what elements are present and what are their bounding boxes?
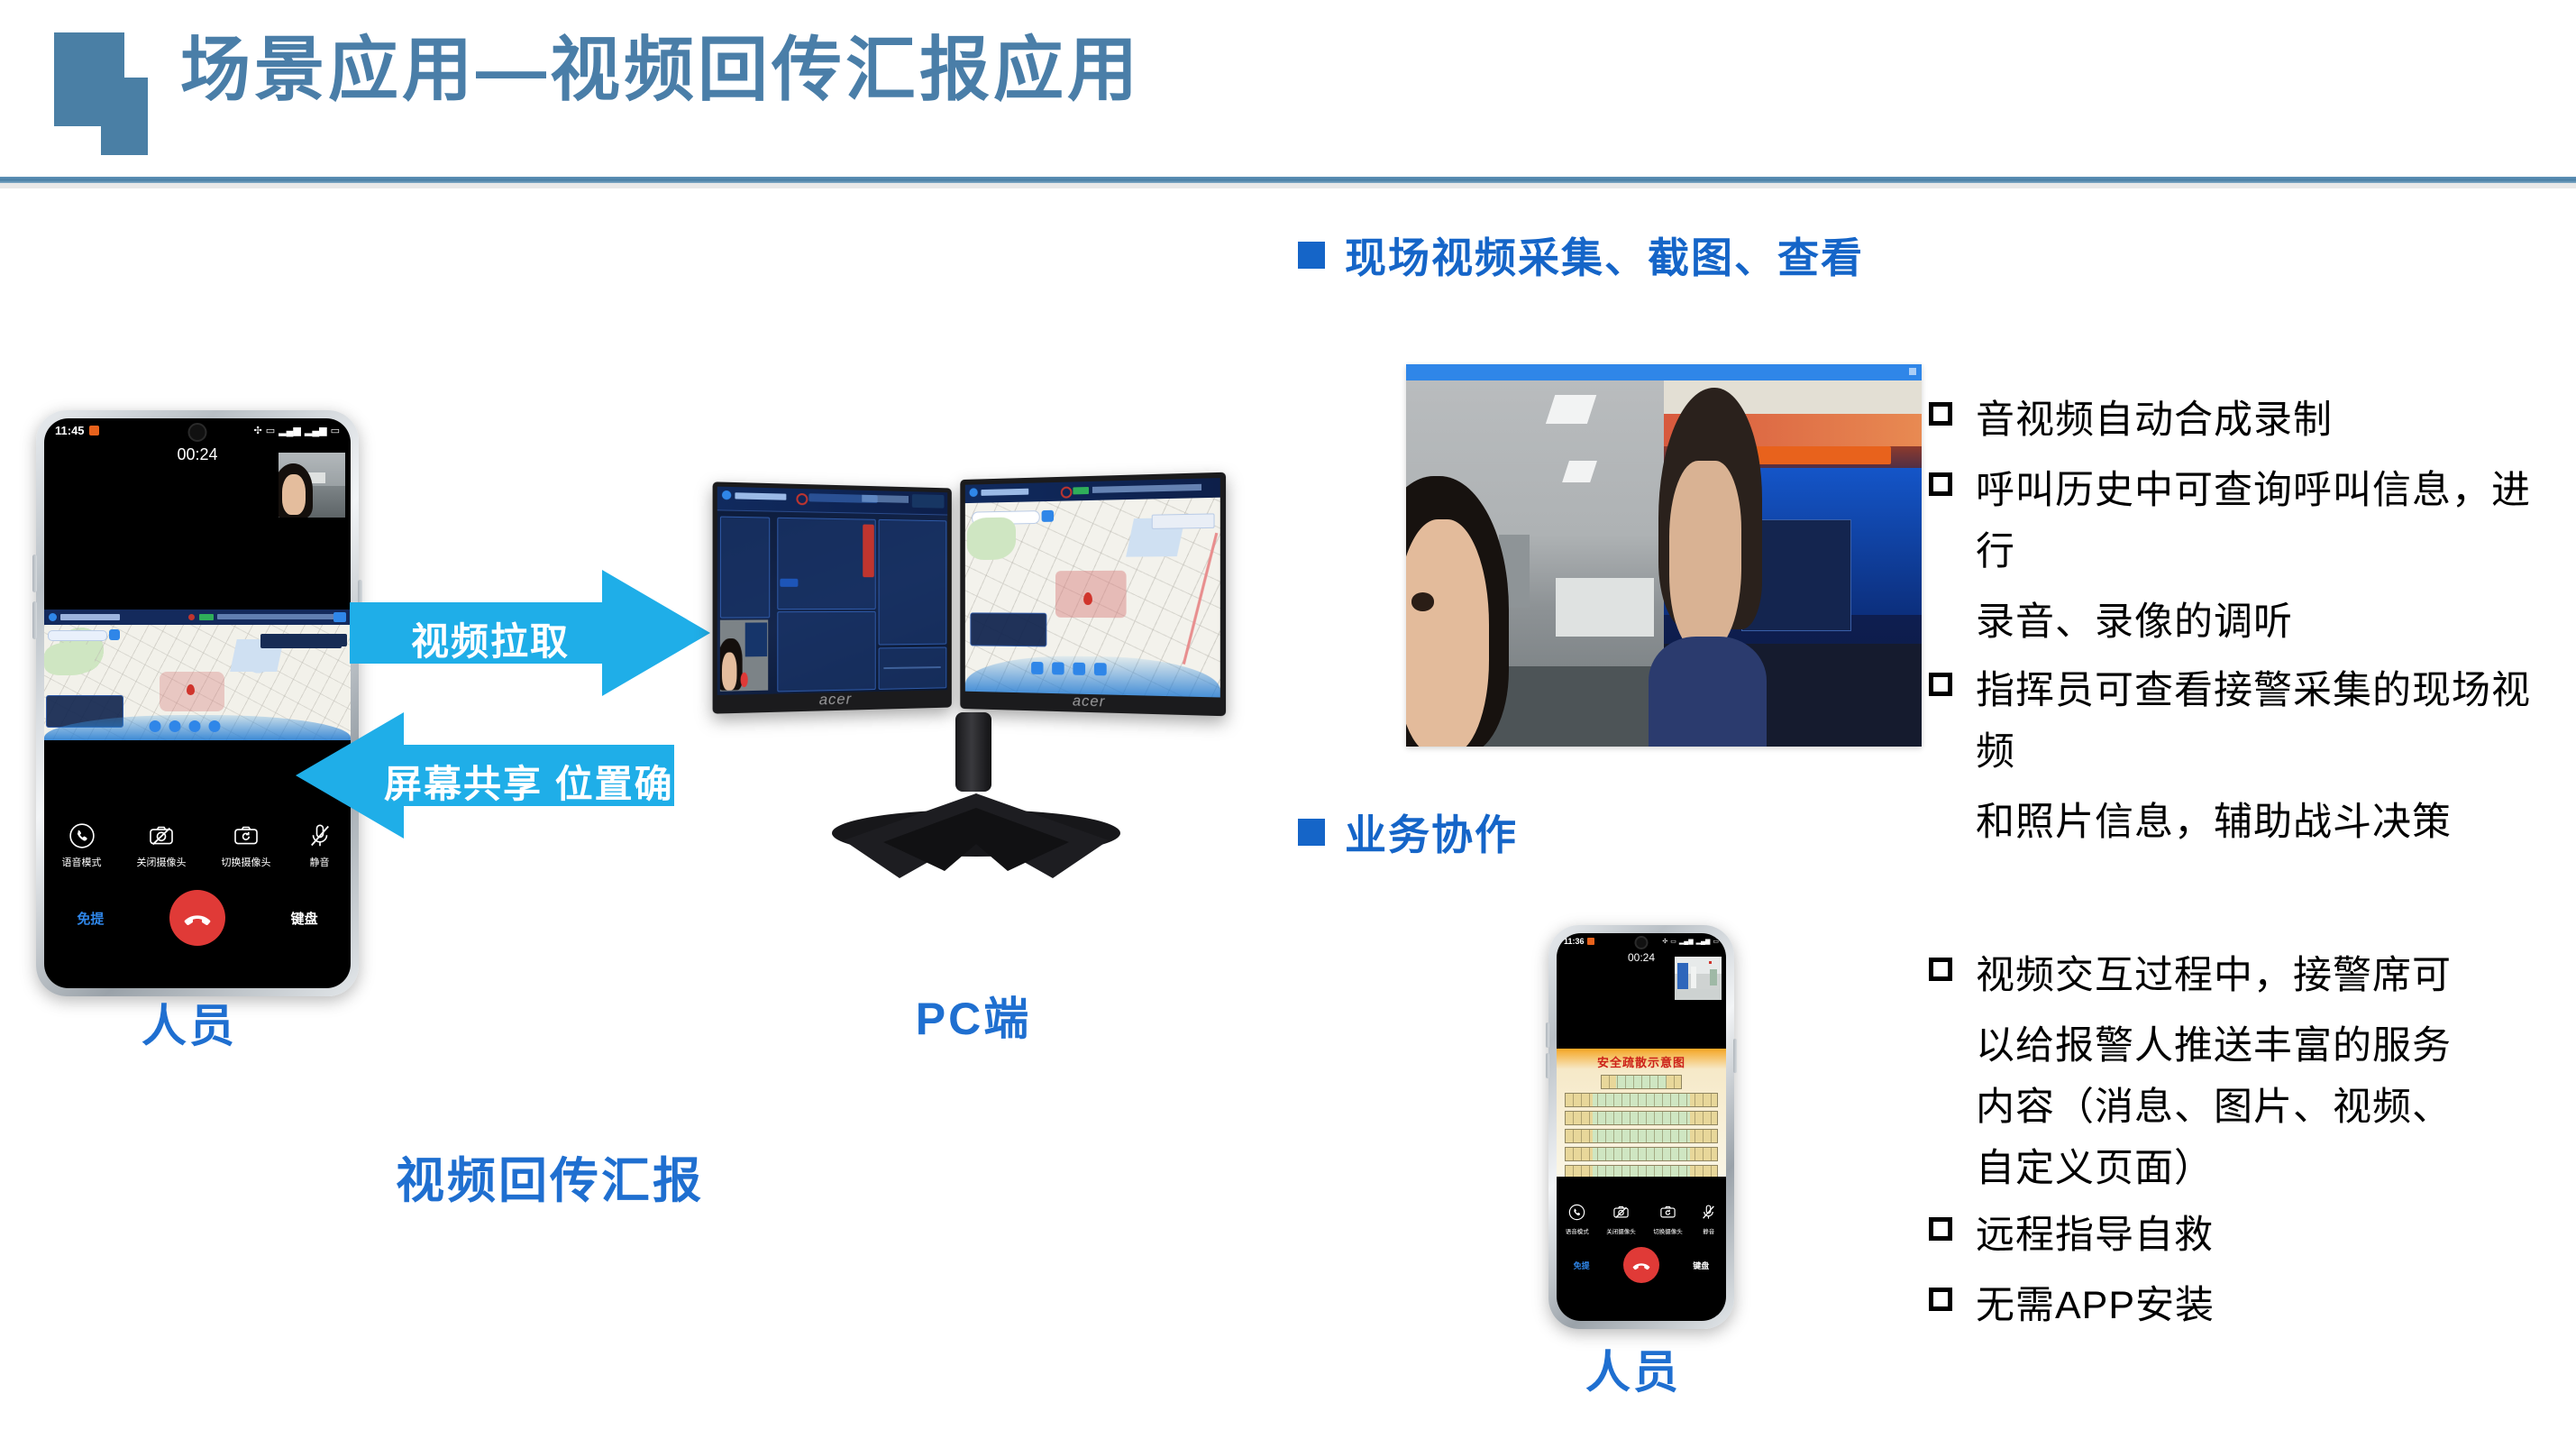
app-badge-icon	[89, 426, 99, 435]
camera-switch-icon	[1659, 1204, 1676, 1221]
bullet-text-continued: 内容（消息、图片、视频、	[1929, 1077, 2560, 1138]
phone-right-side-button[interactable]	[1733, 1039, 1737, 1073]
bullet-square-icon	[1929, 958, 1952, 981]
camera-switch-button[interactable]: 切换摄像头	[222, 822, 271, 869]
evac-diagram-title: 安全疏散示意图	[1557, 1053, 1726, 1070]
console-checklist-panel	[777, 611, 876, 692]
section-heading-video-capture: 现场视频采集、截图、查看	[1298, 225, 1864, 285]
monitor-left-screen[interactable]	[717, 487, 947, 695]
signal-2-icon: ▂▄▆	[305, 425, 327, 436]
map-pin-icon	[1083, 592, 1092, 605]
map-park-area	[967, 517, 1016, 560]
camera-off-icon	[148, 822, 175, 849]
map-legend-panel	[970, 612, 1046, 646]
bullet-text: 视频交互过程中，接警席可	[1976, 945, 2452, 1006]
map-toolbar[interactable]	[1152, 513, 1215, 529]
dispatch-console-ui	[717, 487, 947, 695]
phone-right-screen: 11:36 ✣ ▭ ▂▄▆ ▂▄▆ ▭ 00:24 安全疏散示意图	[1557, 933, 1726, 1321]
arrow-back-label: 屏幕共享 位置确认	[384, 754, 714, 809]
map-console-topbar	[965, 478, 1220, 503]
page-title: 场景应用—视频回传汇报应用	[180, 20, 1141, 119]
voice-mode-button[interactable]: 语音模式	[1566, 1204, 1589, 1235]
console-video-preview	[720, 619, 768, 691]
section-heading-label: 现场视频采集、截图、查看	[1345, 225, 1864, 285]
mic-off-icon	[1700, 1204, 1717, 1221]
phone-left-bottom-bar: 免提 键盘	[44, 890, 351, 946]
section-bullet-icon	[1298, 819, 1325, 846]
hangup-icon	[182, 903, 213, 933]
camera-off-button[interactable]: 关闭摄像头	[1606, 1204, 1636, 1235]
bullet-text-continued: 录音、录像的调听	[1929, 591, 2560, 653]
keypad-button[interactable]: 键盘	[1693, 1260, 1709, 1271]
phone-left-front-camera	[188, 423, 207, 442]
bullet-square-icon	[1929, 1288, 1952, 1311]
bullet-list-business-collab: 视频交互过程中，接警席可 以给报警人推送丰富的服务 内容（消息、图片、视频、 自…	[1929, 945, 2560, 1345]
arrow-back: 屏幕共享 位置确认	[296, 712, 674, 839]
console-topbar	[717, 487, 947, 516]
header-divider-shadow	[0, 183, 2576, 188]
camera-off-label: 关闭摄像头	[1606, 1226, 1636, 1235]
bluetooth-icon: ✣	[1662, 938, 1667, 945]
bullet-text-continued: 和照片信息，辅助战斗决策	[1929, 792, 2560, 853]
camera-switch-label: 切换摄像头	[222, 855, 271, 869]
section-heading-label: 业务协作	[1345, 802, 1518, 862]
bullet-text: 音视频自动合成录制	[1976, 390, 2333, 451]
bullet-item: 指挥员可查看接警采集的现场视频	[1929, 660, 2560, 783]
voice-mode-label: 语音模式	[1566, 1226, 1589, 1235]
floor-row	[1565, 1093, 1717, 1107]
mute-label: 静音	[310, 855, 330, 869]
hangup-button[interactable]	[1623, 1247, 1659, 1283]
bullet-text: 无需APP安装	[1976, 1275, 2215, 1336]
floor-row	[1565, 1129, 1717, 1143]
pc-monitors: acer	[694, 460, 1253, 965]
map-console-ui	[965, 478, 1220, 697]
section-bullet-icon	[1298, 242, 1325, 269]
map-bottom-wave	[965, 655, 1220, 698]
wifi-icon: ▭	[266, 425, 275, 436]
video-call-photo	[1406, 364, 1922, 747]
camera-switch-icon	[233, 822, 260, 849]
hangup-button[interactable]	[169, 890, 225, 946]
monitor-right: acer	[960, 472, 1226, 717]
battery-icon: ▭	[331, 425, 340, 436]
photo-dispatcher-pane	[1664, 380, 1922, 747]
header-divider	[0, 177, 2576, 183]
phone-right: 11:36 ✣ ▭ ▂▄▆ ▂▄▆ ▭ 00:24 安全疏散示意图	[1548, 925, 1734, 1329]
phone-icon	[69, 822, 96, 849]
console-action-chip[interactable]	[780, 579, 799, 587]
bullet-square-icon	[1929, 1217, 1952, 1241]
phone-right-front-camera	[1635, 936, 1649, 949]
photo-close-icon[interactable]	[1909, 368, 1916, 375]
phone-left-caption: 人员	[36, 990, 343, 1055]
monitor-right-brand: acer	[1073, 692, 1105, 711]
photo-dispatcher-shirt	[1649, 637, 1768, 747]
floor-row	[1565, 1147, 1717, 1161]
phone-right-self-view[interactable]	[1675, 957, 1722, 1000]
speaker-button[interactable]: 免提	[77, 909, 104, 928]
bullet-text-continued: 以给报警人推送丰富的服务	[1929, 1015, 2560, 1077]
phone-right-power-button[interactable]	[1546, 1053, 1549, 1078]
app-badge-icon	[1587, 938, 1594, 945]
flow-caption: 视频回传汇报	[297, 1141, 802, 1212]
bullet-list-video-capture: 音视频自动合成录制 呼叫历史中可查询呼叫信息，进行 录音、录像的调听 指挥员可查…	[1929, 390, 2560, 853]
phone-left-status-time: 11:45	[55, 424, 85, 437]
bullet-item: 无需APP安装	[1929, 1275, 2560, 1336]
monitor-left: acer	[713, 481, 952, 713]
console-alarm-button[interactable]	[863, 525, 874, 577]
floor-row	[1565, 1165, 1717, 1177]
photo-building	[1556, 578, 1654, 637]
bullet-text-continued: 自定义页面）	[1929, 1138, 2560, 1199]
step-logo-block-bottom	[101, 78, 148, 155]
camera-off-label: 关闭摄像头	[137, 855, 187, 869]
camera-switch-button[interactable]: 切换摄像头	[1653, 1204, 1683, 1235]
phone-left: 11:45 ✣ ▭ ▂▄▆ ▂▄▆ ▭ 00:24	[36, 410, 359, 996]
hangup-icon	[1631, 1255, 1651, 1275]
voice-mode-button[interactable]: 语音模式	[62, 822, 102, 869]
mute-button[interactable]: 静音	[1700, 1204, 1717, 1235]
signal-2-icon: ▂▄▆	[1696, 938, 1711, 945]
bullet-square-icon	[1929, 402, 1952, 426]
camera-off-icon	[1612, 1204, 1630, 1221]
photo-caller-face	[1406, 519, 1489, 747]
phone-right-controls: 语音模式 关闭摄像头 切换摄像头	[1557, 1204, 1726, 1235]
keypad-button[interactable]: 键盘	[291, 909, 318, 928]
photo-caller-pane	[1406, 380, 1664, 747]
camera-switch-label: 切换摄像头	[1653, 1226, 1683, 1235]
console-form-panel	[777, 517, 876, 609]
bullet-item: 音视频自动合成录制	[1929, 390, 2560, 451]
mute-label: 静音	[1703, 1226, 1714, 1235]
speaker-button[interactable]: 免提	[1574, 1260, 1590, 1271]
phone-right-shared-evac-diagram[interactable]: 安全疏散示意图	[1557, 1049, 1726, 1177]
pc-caption: PC端	[784, 983, 1163, 1048]
bullet-item: 视频交互过程中，接警席可	[1929, 945, 2560, 1006]
phone-right-volume-button[interactable]	[1546, 1022, 1549, 1048]
signal-1-icon: ▂▄▆	[1679, 938, 1694, 945]
bullet-text: 指挥员可查看接警采集的现场视频	[1976, 660, 2553, 783]
arrow-forward-label: 视频拉取	[411, 611, 570, 666]
phone-left-volume-button[interactable]	[32, 555, 37, 592]
phone-right-bottom-bar: 免提 键盘	[1557, 1247, 1726, 1283]
console-left-panel	[720, 516, 770, 618]
shared-map-titlebar	[44, 610, 351, 625]
bullet-square-icon	[1929, 673, 1952, 696]
bullet-text: 呼叫历史中可查询呼叫信息，进行	[1976, 460, 2553, 582]
console-info-panel	[879, 518, 947, 645]
video-call-photo-titlebar	[1406, 364, 1922, 380]
monitor-stand-base	[827, 777, 1125, 894]
bullet-square-icon	[1929, 472, 1952, 496]
battery-icon: ▭	[1713, 938, 1719, 945]
phone-right-status-time: 11:36	[1564, 937, 1585, 946]
floor-row	[1565, 1111, 1717, 1125]
wifi-icon: ▭	[1670, 938, 1676, 945]
signal-1-icon: ▂▄▆	[279, 425, 301, 436]
bullet-item: 远程指导自救	[1929, 1205, 2560, 1266]
monitor-right-screen[interactable]	[965, 478, 1220, 697]
bullet-item: 呼叫历史中可查询呼叫信息，进行	[1929, 460, 2560, 582]
phone-left-self-view[interactable]	[279, 453, 345, 518]
phone-icon	[1568, 1204, 1585, 1221]
photo-dispatcher-face	[1669, 461, 1741, 651]
page-header: 场景应用—视频回传汇报应用	[0, 0, 2576, 180]
voice-mode-label: 语音模式	[62, 855, 102, 869]
monitor-left-brand: acer	[819, 691, 852, 710]
phone-left-screen: 11:45 ✣ ▭ ▂▄▆ ▂▄▆ ▭ 00:24	[44, 418, 351, 988]
phone-left-power-button[interactable]	[32, 601, 37, 639]
phone-right-caption: 人员	[1548, 1336, 1718, 1401]
floor-row	[1601, 1075, 1682, 1089]
arrow-forward: 视频拉取	[350, 570, 710, 696]
camera-off-button[interactable]: 关闭摄像头	[137, 822, 187, 869]
bluetooth-icon: ✣	[254, 425, 262, 436]
section-heading-business-collab: 业务协作	[1298, 802, 1518, 862]
bullet-text: 远程指导自救	[1976, 1205, 2214, 1266]
map-main-road	[1183, 532, 1219, 664]
